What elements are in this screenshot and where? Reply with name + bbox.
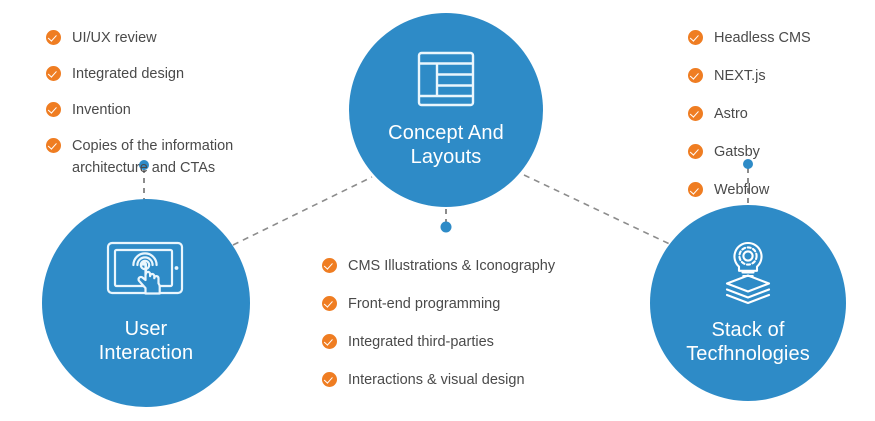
list-item[interactable]: Headless CMS bbox=[688, 27, 868, 49]
check-circle-icon bbox=[688, 68, 703, 83]
node-center-label: Concept And Layouts bbox=[388, 122, 504, 169]
lightbulb-gear-stack-icon bbox=[715, 239, 781, 305]
list-item[interactable]: Copies of the information architecture a… bbox=[46, 135, 308, 179]
connector-line-left-to-center bbox=[233, 177, 372, 245]
check-circle-icon bbox=[46, 138, 61, 153]
list-item[interactable]: Invention bbox=[46, 99, 308, 121]
list-item[interactable]: Interactions & visual design bbox=[322, 369, 622, 391]
node-right-label-line2: Tecfhnologies bbox=[686, 343, 810, 367]
check-circle-icon bbox=[688, 144, 703, 159]
node-stack-of-technologies[interactable]: Stack of Tecfhnologies bbox=[650, 205, 846, 401]
list-item[interactable]: Front-end programming bbox=[322, 293, 622, 315]
diagram-canvas: Concept And Layouts User bbox=[0, 0, 875, 421]
check-circle-icon bbox=[46, 102, 61, 117]
connector-line-center-to-right bbox=[524, 175, 678, 248]
list-item-label: Gatsby bbox=[714, 141, 760, 163]
list-item[interactable]: CMS Illustrations & Iconography bbox=[322, 255, 622, 277]
list-item-label: Headless CMS bbox=[714, 27, 811, 49]
bullet-list-bottom-center: CMS Illustrations & Iconography Front-en… bbox=[322, 255, 622, 407]
list-item[interactable]: Webflow bbox=[688, 179, 868, 201]
list-item[interactable]: Integrated design bbox=[46, 63, 308, 85]
check-circle-icon bbox=[322, 296, 337, 311]
list-item[interactable]: UI/UX review bbox=[46, 27, 308, 49]
check-circle-icon bbox=[322, 334, 337, 349]
check-circle-icon bbox=[46, 30, 61, 45]
list-item-label: Integrated third-parties bbox=[348, 331, 494, 353]
node-right-label-line1: Stack of bbox=[686, 319, 810, 343]
list-item-label: Front-end programming bbox=[348, 293, 500, 315]
node-concept-and-layouts[interactable]: Concept And Layouts bbox=[349, 13, 543, 207]
bullet-list-top-left: UI/UX review Integrated design Invention… bbox=[46, 27, 308, 179]
list-item-label: Integrated design bbox=[72, 63, 184, 85]
tablet-touch-icon bbox=[104, 240, 188, 302]
connector-dot-center-bottom bbox=[441, 222, 452, 233]
check-circle-icon bbox=[322, 258, 337, 273]
layout-wireframe-icon bbox=[416, 50, 476, 108]
node-left-label: User Interaction bbox=[99, 318, 194, 365]
list-item[interactable]: Gatsby bbox=[688, 141, 868, 163]
node-left-label-line2: Interaction bbox=[99, 342, 194, 366]
list-item[interactable]: NEXT.js bbox=[688, 65, 868, 87]
check-circle-icon bbox=[688, 182, 703, 197]
list-item-label: UI/UX review bbox=[72, 27, 157, 49]
list-item-label: NEXT.js bbox=[714, 65, 766, 87]
check-circle-icon bbox=[46, 66, 61, 81]
list-item-label: Invention bbox=[72, 99, 131, 121]
check-circle-icon bbox=[688, 30, 703, 45]
list-item-label: Astro bbox=[714, 103, 748, 125]
list-item-label: Webflow bbox=[714, 179, 769, 201]
list-item[interactable]: Integrated third-parties bbox=[322, 331, 622, 353]
node-center-label-line2: Layouts bbox=[388, 146, 504, 170]
node-user-interaction[interactable]: User Interaction bbox=[42, 199, 250, 407]
bullet-list-top-right: Headless CMS NEXT.js Astro Gatsby Webflo… bbox=[688, 27, 868, 217]
node-left-label-line1: User bbox=[99, 318, 194, 342]
check-circle-icon bbox=[688, 106, 703, 121]
list-item-label: CMS Illustrations & Iconography bbox=[348, 255, 555, 277]
node-right-label: Stack of Tecfhnologies bbox=[686, 319, 810, 366]
list-item-label: Copies of the information architecture a… bbox=[72, 135, 308, 179]
list-item[interactable]: Astro bbox=[688, 103, 868, 125]
list-item-label: Interactions & visual design bbox=[348, 369, 525, 391]
check-circle-icon bbox=[322, 372, 337, 387]
node-center-label-line1: Concept And bbox=[388, 122, 504, 146]
